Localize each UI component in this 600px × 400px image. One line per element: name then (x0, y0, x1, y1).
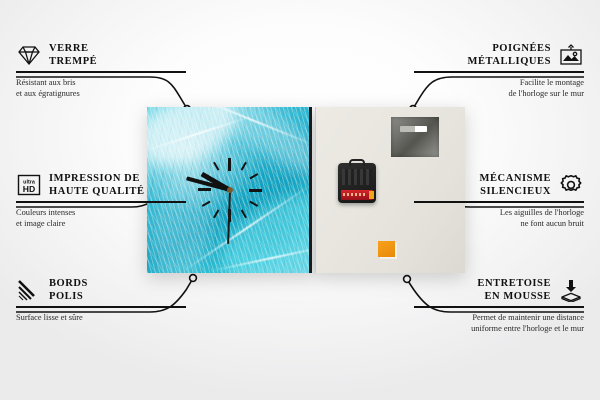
feature-mecanisme-silencieux: MÉCANISME SILENCIEUX Les aiguilles de l'… (414, 172, 584, 229)
feature-entretoise-en-mousse: ENTRETOISE EN MOUSSE Permet de maintenir… (414, 277, 584, 334)
svg-text:HD: HD (23, 184, 35, 194)
polished-edges-icon (16, 278, 42, 302)
feature-title-line1: POIGNÉES (468, 42, 551, 55)
ultra-hd-icon: ultra HD (16, 173, 42, 197)
feature-title-line1: VERRE (49, 42, 97, 55)
feature-title-line2: MÉTALLIQUES (468, 55, 551, 68)
feature-title-line1: MÉCANISME (480, 172, 551, 185)
hanging-frame-icon (558, 43, 584, 67)
clock-center-cap (227, 187, 233, 193)
feature-rule (16, 306, 186, 307)
feature-rule (414, 71, 584, 72)
clock-movement-box (338, 163, 376, 203)
feature-impression-haute-qualite: ultra HD IMPRESSION DE HAUTE QUALITÉ Cou… (16, 172, 186, 229)
feature-title-line1: IMPRESSION DE (49, 172, 145, 185)
feature-bords-polis: BORDS POLIS Surface lisse et sûre (16, 277, 186, 323)
gear-icon (558, 173, 584, 197)
feature-desc-line1: Facilite le montage (414, 77, 584, 88)
feature-rule (414, 306, 584, 307)
feature-desc-line2: uniforme entre l'horloge et le mur (414, 323, 584, 334)
connector-dot-entretoise (404, 276, 411, 283)
feature-title-line2: POLIS (49, 290, 88, 303)
feature-desc-line1: Permet de maintenir une distance (414, 312, 584, 323)
battery (341, 190, 373, 200)
feature-title-line2: HAUTE QUALITÉ (49, 185, 145, 198)
feature-desc-line2: et image claire (16, 218, 186, 229)
foam-spacer-icon (558, 278, 584, 302)
feature-title-line2: EN MOUSSE (477, 290, 551, 303)
clock-second-hand (227, 190, 231, 244)
foam-spacer (378, 241, 395, 257)
feature-verre-trempe: VERRE TREMPÉ Résistant aux bris et aux é… (16, 42, 186, 99)
feature-title-line2: TREMPÉ (49, 55, 97, 68)
feature-desc-line1: Surface lisse et sûre (16, 312, 186, 323)
feature-desc-line1: Couleurs intenses (16, 207, 186, 218)
feature-desc-line2: ne font aucun bruit (414, 218, 584, 229)
feature-desc-line1: Résistant aux bris (16, 77, 186, 88)
feature-title-line1: ENTRETOISE (477, 277, 551, 290)
feature-desc-line2: et aux égratignures (16, 88, 186, 99)
diamond-icon (16, 43, 42, 67)
connector-dot-bords (190, 275, 197, 282)
metal-hanger-plate (391, 117, 439, 157)
feature-rule (16, 201, 186, 202)
feature-poignees-metalliques: POIGNÉES MÉTALLIQUES Facilite le montage… (414, 42, 584, 99)
feature-rule (414, 201, 584, 202)
feature-desc-line2: de l'horloge sur le mur (414, 88, 584, 99)
infographic-stage: VERRE TREMPÉ Résistant aux bris et aux é… (0, 0, 600, 400)
feature-title-line2: SILENCIEUX (480, 185, 551, 198)
feature-title-line1: BORDS (49, 277, 88, 290)
feature-rule (16, 71, 186, 72)
feature-desc-line1: Les aiguilles de l'horloge (414, 207, 584, 218)
